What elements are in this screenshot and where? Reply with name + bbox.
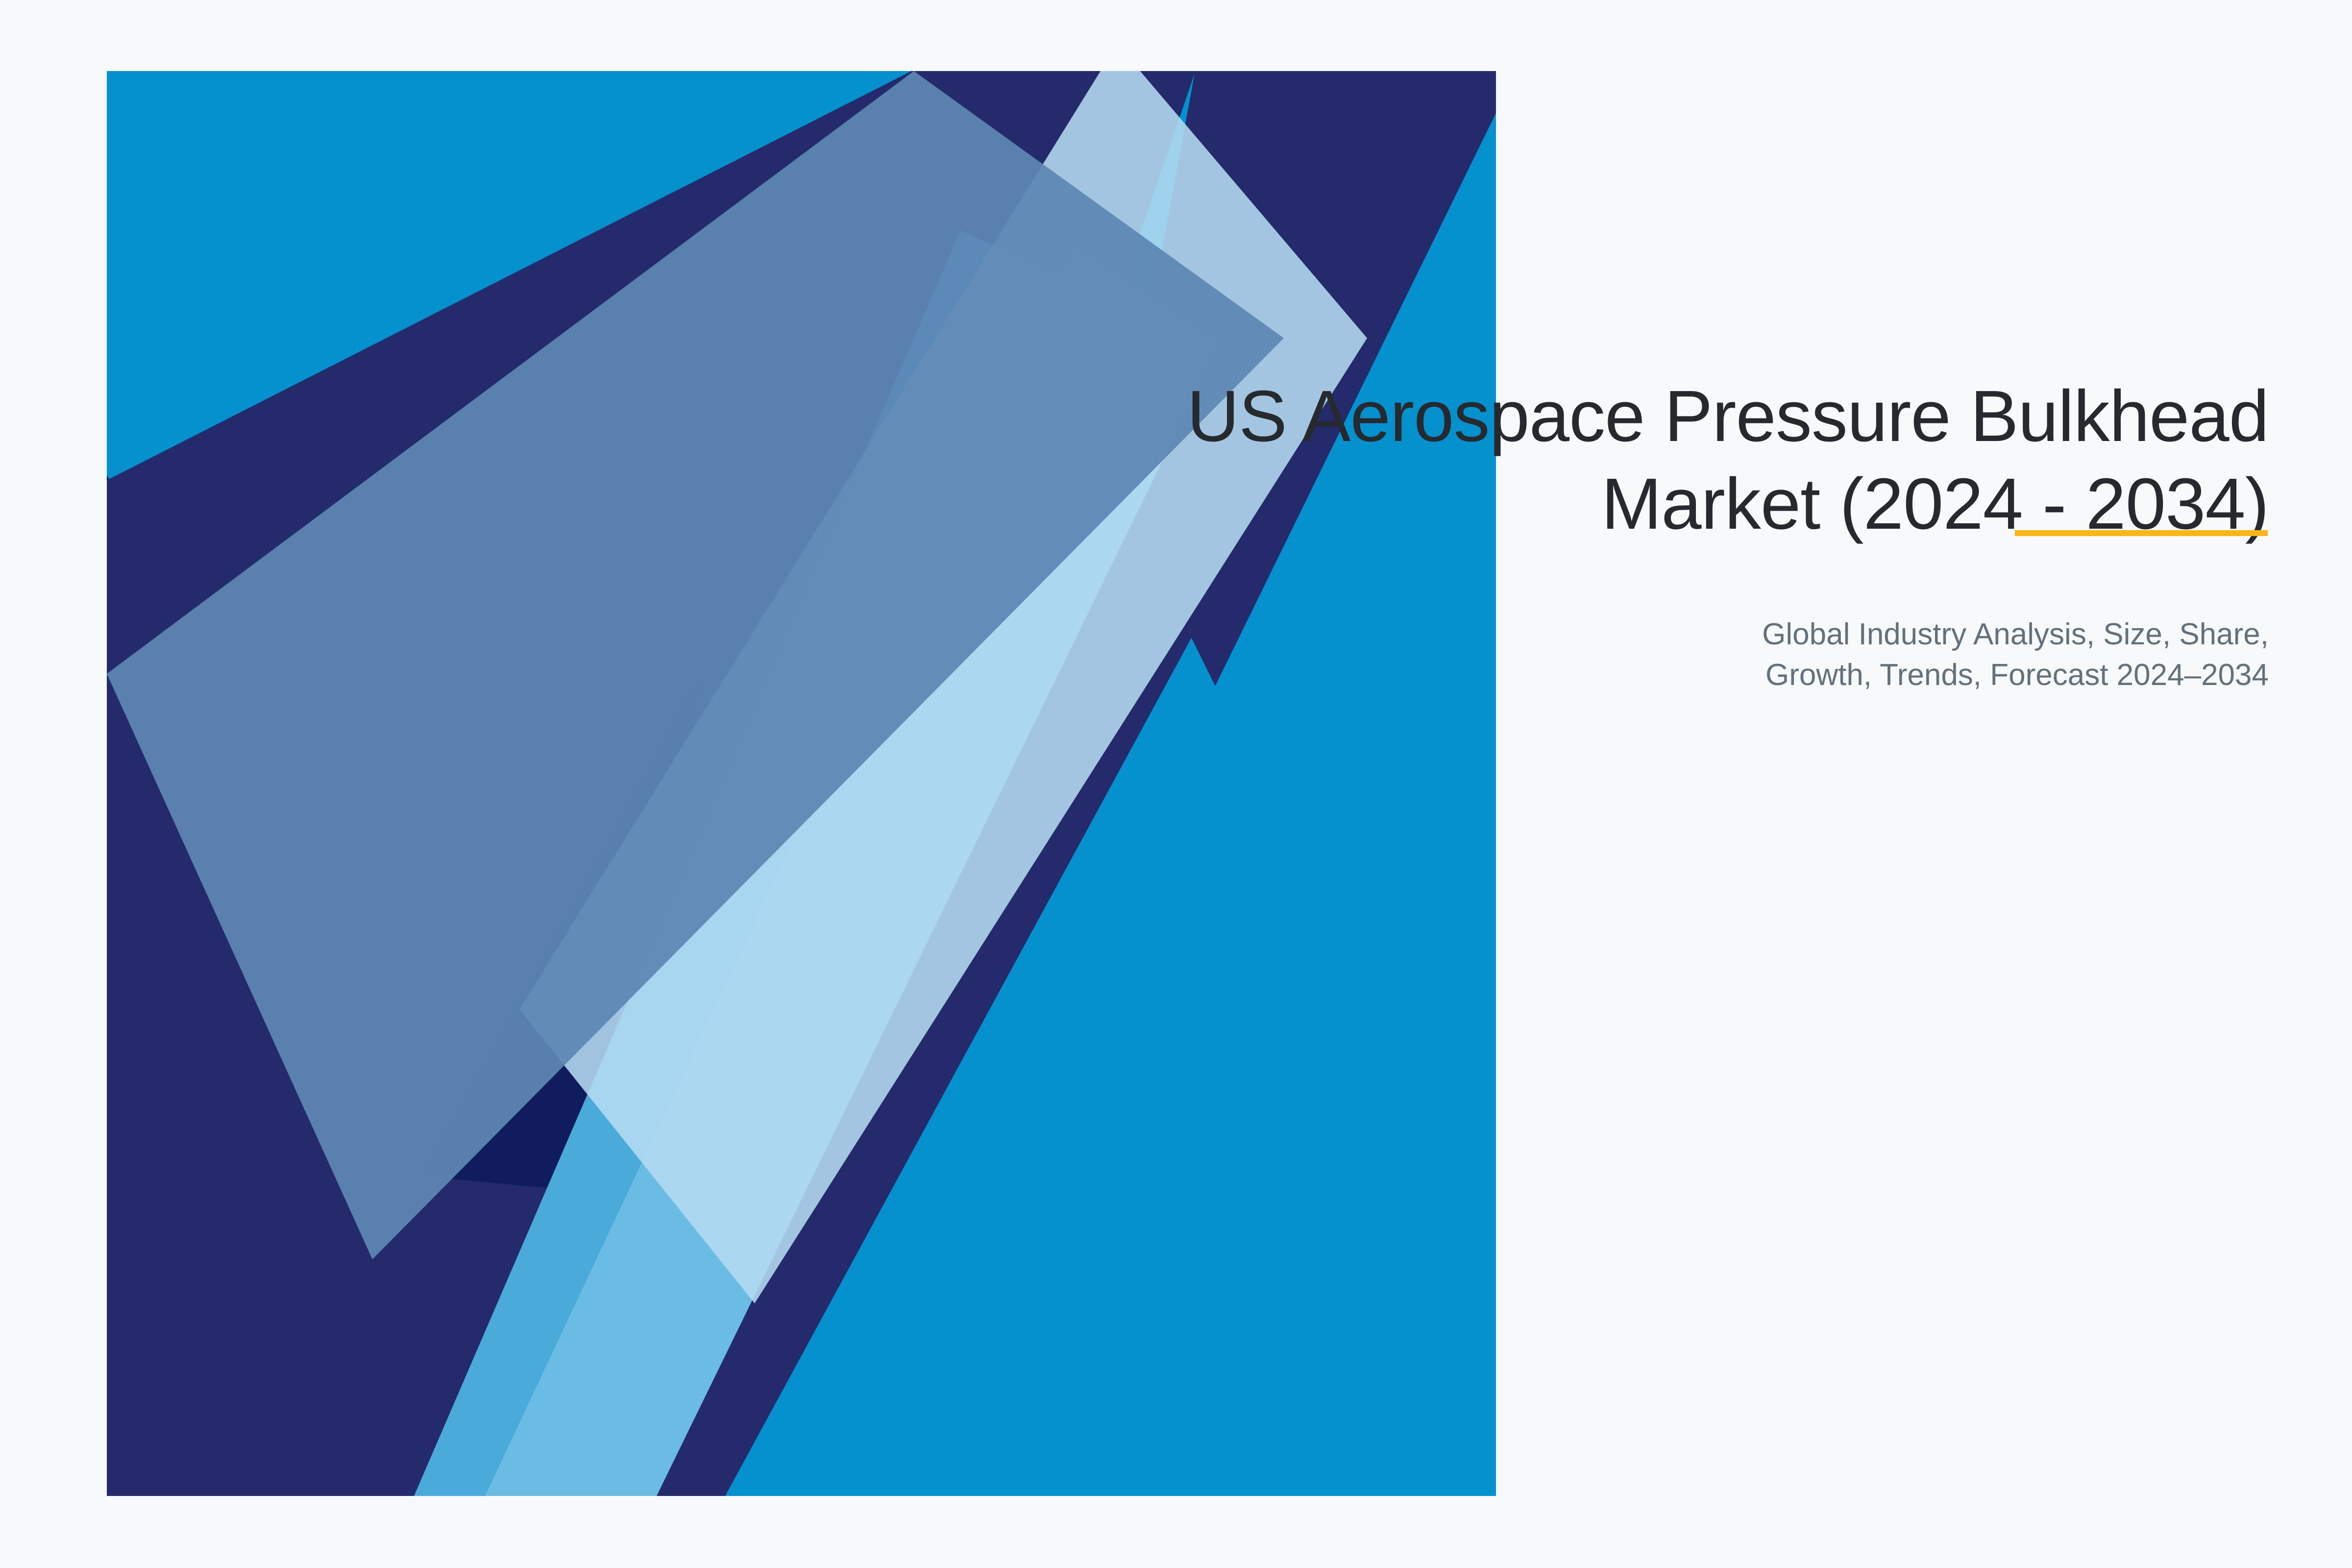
cover-text-block: US Aerospace Pressure Bulkhead Market (2… xyxy=(931,372,2269,695)
title-accent-underline xyxy=(2015,530,2268,536)
page-subtitle: Global Industry Analysis, Size, Share, G… xyxy=(931,548,2269,695)
cover-artwork xyxy=(0,0,2352,1568)
page-title: US Aerospace Pressure Bulkhead Market (2… xyxy=(931,372,2269,548)
title-wrapper: US Aerospace Pressure Bulkhead Market (2… xyxy=(931,372,2269,548)
report-cover: US Aerospace Pressure Bulkhead Market (2… xyxy=(0,0,2352,1568)
